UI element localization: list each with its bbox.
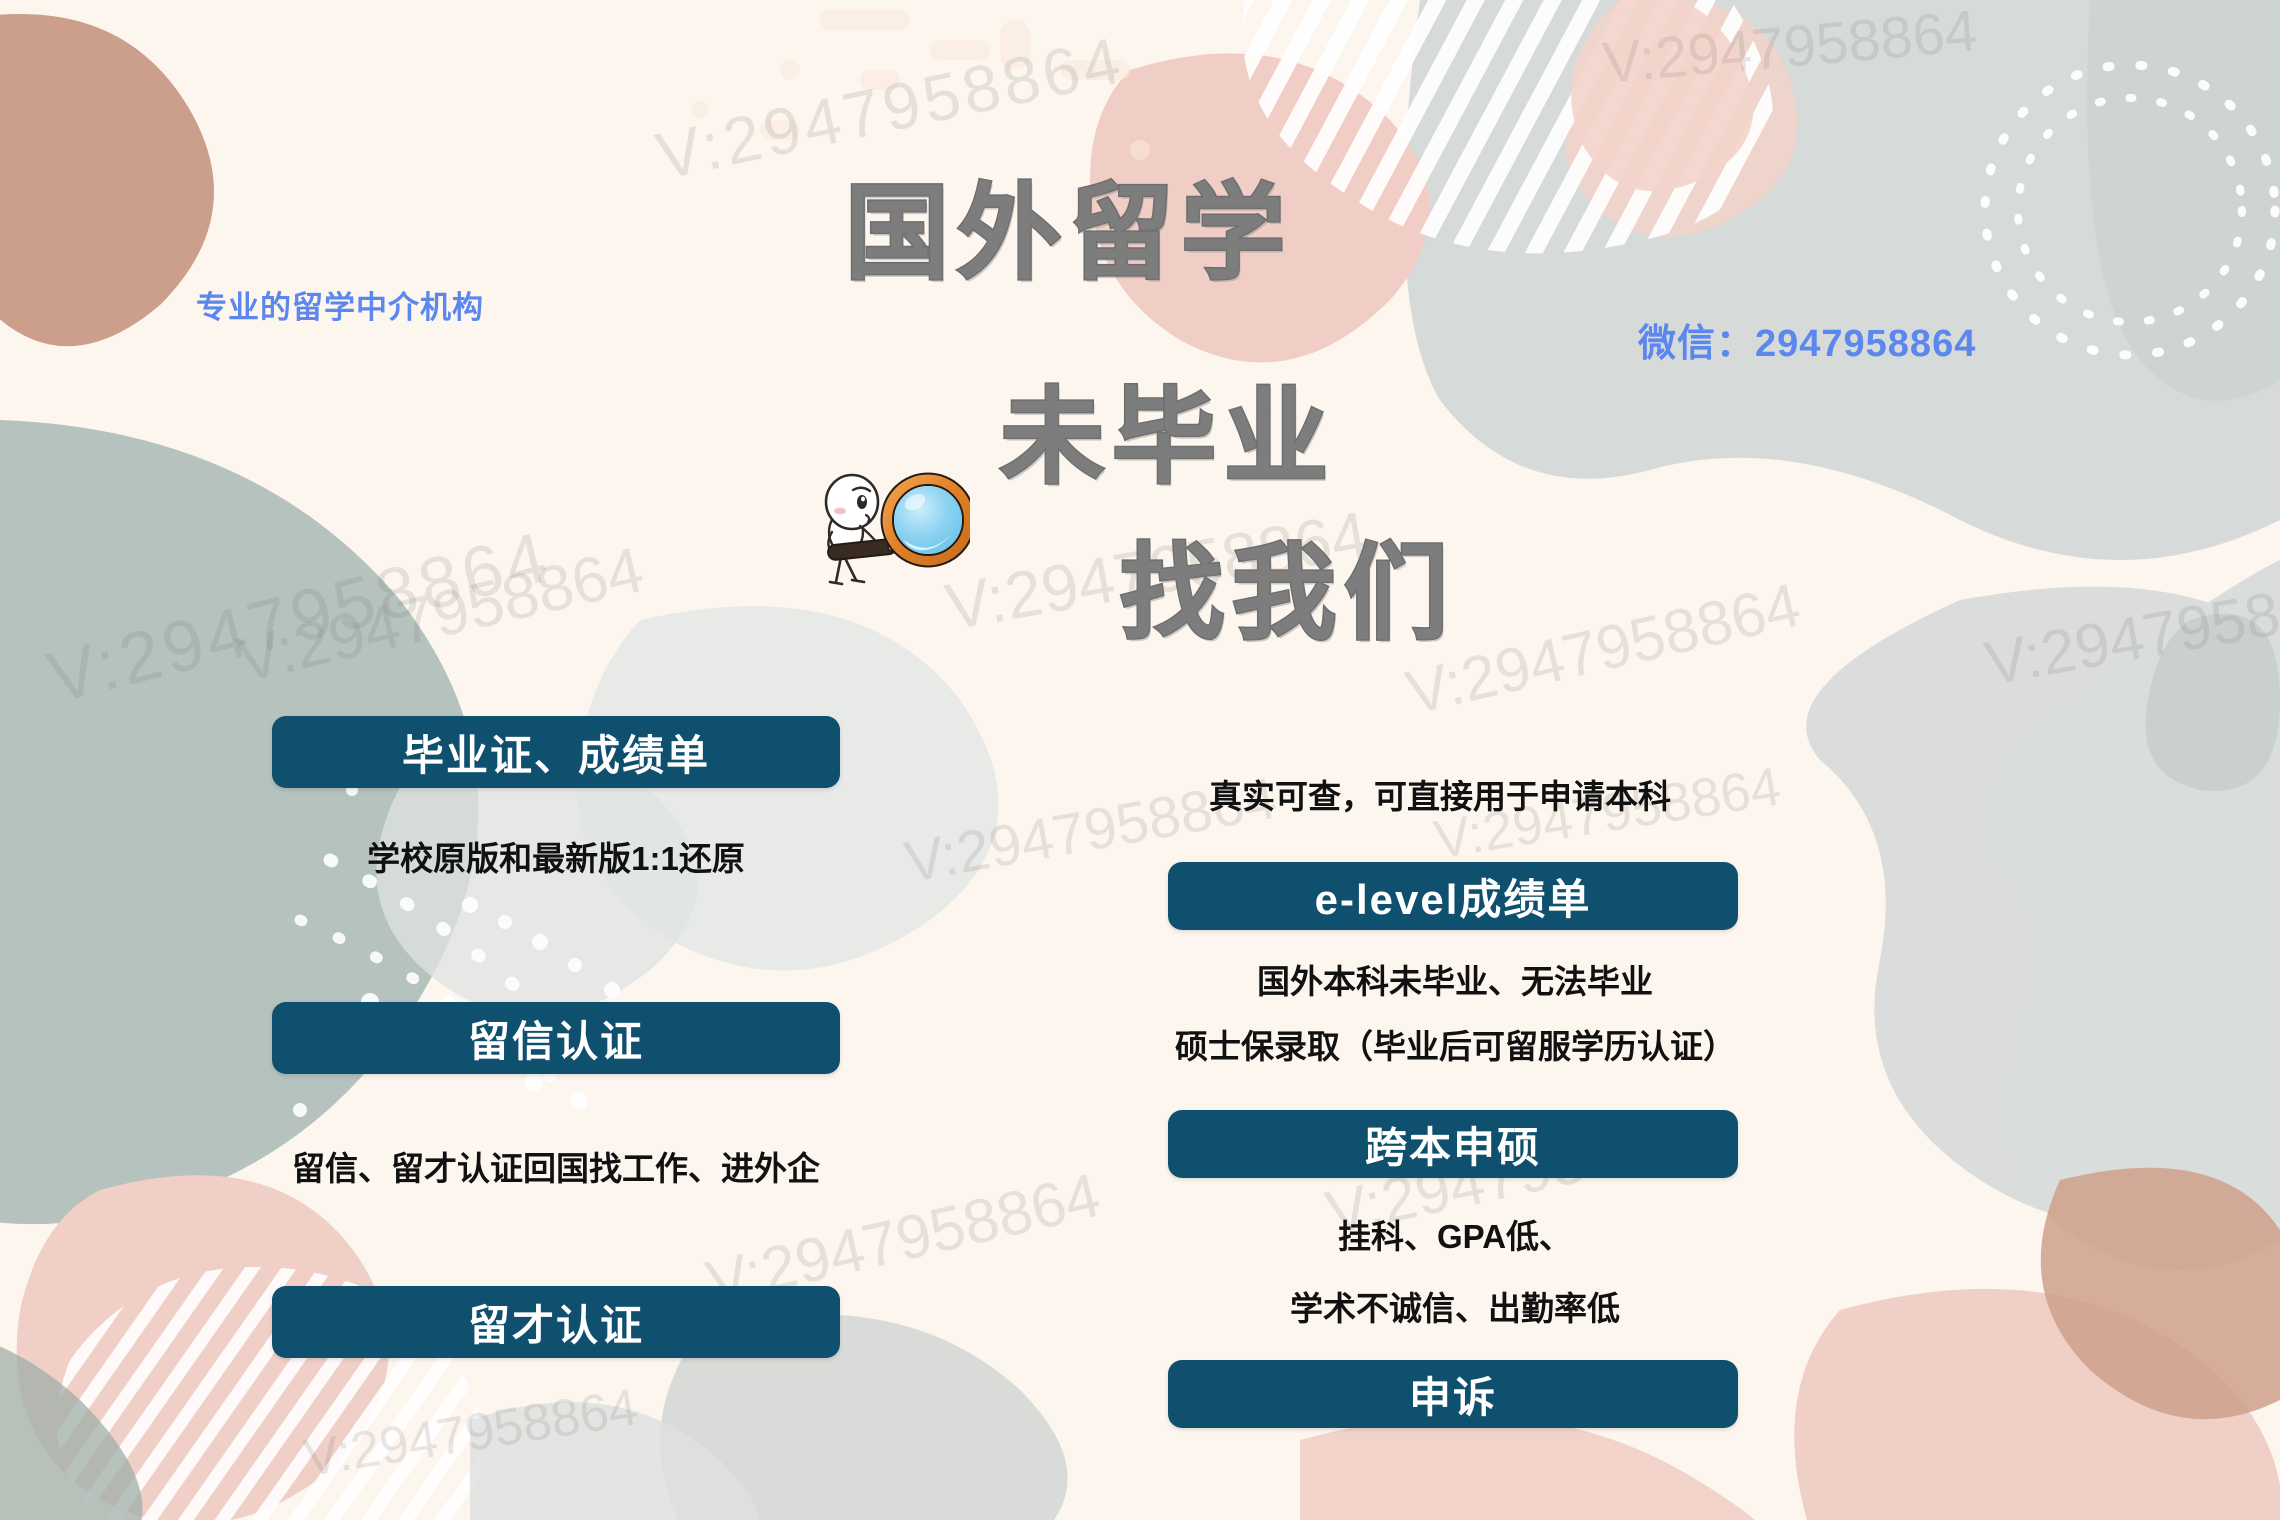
headline-line-2: 未毕业 [1000, 352, 1336, 503]
poster-canvas: V:2947958864 V:2947958864 V:2947958864 V… [0, 0, 2280, 1520]
badge-appeal[interactable]: 申诉 [1168, 1360, 1738, 1428]
wechat-contact: 微信：2947958864 [1638, 312, 1976, 367]
badge-liuxin-certification[interactable]: 留信认证 [272, 1002, 840, 1074]
sub-academic-dishonesty: 学术不诚信、出勤率低 [1150, 1282, 1760, 1330]
sub-undergrad-not-graduated: 国外本科未毕业、无法毕业 [1150, 955, 1760, 1003]
sub-verifiable-notice: 真实可查，可直接用于申请本科 [1130, 770, 1750, 818]
sub-master-guaranteed-admission: 硕士保录取（毕业后可留服学历认证） [1098, 1020, 1813, 1068]
sub-failed-courses-low-gpa: 挂科、GPA低、 [1190, 1210, 1720, 1258]
badge-cross-major-master[interactable]: 跨本申硕 [1168, 1110, 1738, 1178]
headline-line-3: 找我们 [1120, 508, 1456, 659]
badge-diploma-transcript[interactable]: 毕业证、成绩单 [272, 716, 840, 788]
magnifying-glass-character-icon [800, 460, 970, 600]
sub-diploma-transcript: 学校原版和最新版1:1还原 [272, 832, 840, 880]
sub-liuxin-certification: 留信、留才认证回国找工作、进外企 [232, 1142, 880, 1190]
headline-line-1: 国外留学 [845, 148, 1293, 299]
agency-tagline: 专业的留学中介机构 [196, 282, 484, 327]
badge-liucai-certification[interactable]: 留才认证 [272, 1286, 840, 1358]
poster-content: 专业的留学中介机构 微信：2947958864 国外留学 未毕业 找我们 [0, 0, 2280, 1520]
badge-elevel-transcript[interactable]: e-level成绩单 [1168, 862, 1738, 930]
